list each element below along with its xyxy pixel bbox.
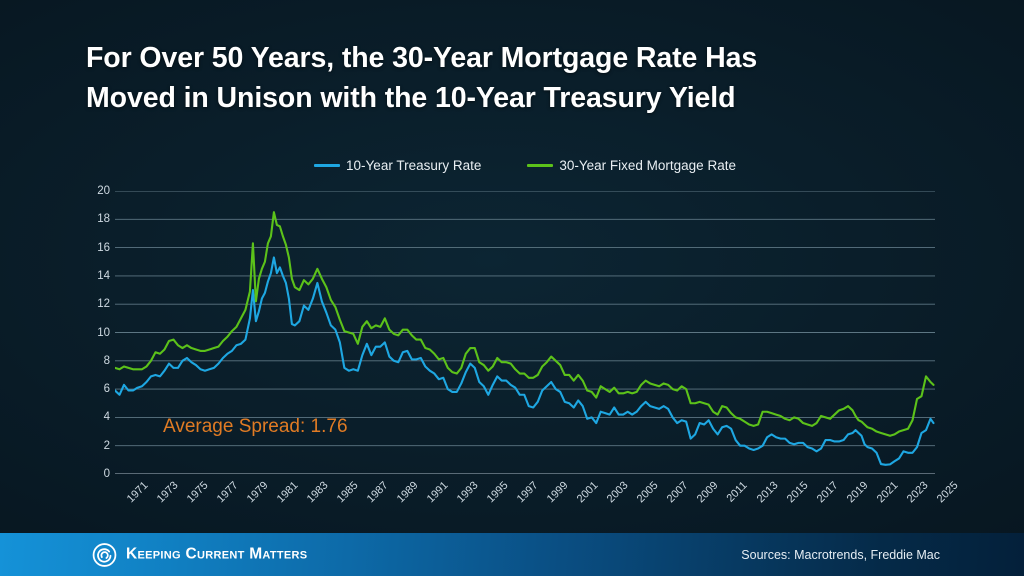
y-tick-label: 18 (97, 213, 110, 225)
x-tick-label: 2015 (784, 479, 810, 505)
footer-bar: Keeping Current Matters Sources: Macrotr… (0, 533, 1024, 576)
x-tick-label: 1977 (215, 479, 241, 505)
y-tick-label: 14 (97, 270, 110, 282)
x-tick-label: 2009 (694, 479, 720, 505)
sources-text: Sources: Macrotrends, Freddie Mac (741, 548, 940, 562)
y-tick-label: 0 (104, 468, 110, 480)
x-tick-label: 2017 (814, 479, 840, 505)
y-tick-label: 16 (97, 242, 110, 254)
x-tick-label: 2025 (934, 479, 960, 505)
title-line-1: For Over 50 Years, the 30-Year Mortgage … (86, 42, 757, 74)
y-tick-label: 4 (104, 411, 110, 423)
y-axis: 02468101214161820 (88, 191, 110, 474)
x-tick-label: 1995 (485, 479, 511, 505)
x-tick-label: 2007 (664, 479, 690, 505)
x-tick-label: 2003 (604, 479, 630, 505)
x-tick-label: 1973 (155, 479, 181, 505)
legend-swatch-mortgage (527, 164, 553, 167)
y-tick-label: 2 (104, 440, 110, 452)
legend-item-treasury[interactable]: 10-Year Treasury Rate (314, 158, 481, 173)
y-tick-label: 20 (97, 185, 110, 197)
series-line-mortgage (115, 212, 934, 436)
x-tick-label: 1971 (125, 479, 151, 505)
x-tick-label: 1983 (305, 479, 331, 505)
x-tick-label: 2019 (844, 479, 870, 505)
x-tick-label: 2013 (754, 479, 780, 505)
average-spread-annotation: Average Spread: 1.76 (163, 416, 348, 438)
legend-swatch-treasury (314, 164, 340, 167)
slide-canvas: For Over 50 Years, the 30-Year Mortgage … (0, 0, 1024, 576)
x-tick-label: 2021 (874, 479, 900, 505)
brand-name: Keeping Current Matters (126, 546, 307, 564)
x-tick-label: 1987 (365, 479, 391, 505)
x-tick-label: 1999 (544, 479, 570, 505)
x-tick-label: 1985 (335, 479, 361, 505)
legend-label-treasury: 10-Year Treasury Rate (346, 158, 481, 173)
x-tick-label: 1991 (425, 479, 451, 505)
x-tick-label: 2005 (634, 479, 660, 505)
y-tick-label: 12 (97, 298, 110, 310)
title-line-2: Moved in Unison with the 10-Year Treasur… (86, 78, 946, 118)
x-tick-label: 2023 (904, 479, 930, 505)
chart-legend: 10-Year Treasury Rate 30-Year Fixed Mort… (115, 158, 935, 173)
x-tick-label: 1993 (455, 479, 481, 505)
y-tick-label: 8 (104, 355, 110, 367)
y-tick-label: 6 (104, 383, 110, 395)
legend-label-mortgage: 30-Year Fixed Mortgage Rate (559, 158, 736, 173)
x-tick-label: 2011 (724, 479, 749, 504)
brand-logo[interactable]: Keeping Current Matters (92, 542, 307, 567)
x-tick-label: 1979 (245, 479, 271, 505)
x-tick-label: 1981 (275, 479, 301, 505)
y-tick-label: 10 (97, 327, 110, 339)
spiral-circle-logo-icon (92, 542, 117, 567)
page-title: For Over 50 Years, the 30-Year Mortgage … (86, 38, 946, 119)
legend-item-mortgage[interactable]: 30-Year Fixed Mortgage Rate (527, 158, 736, 173)
x-axis: 1971197319751977197919811983198519871989… (115, 478, 935, 524)
x-tick-label: 1975 (185, 479, 211, 505)
x-tick-label: 2001 (574, 479, 600, 505)
x-tick-label: 1989 (395, 479, 421, 505)
x-tick-label: 1997 (515, 479, 541, 505)
